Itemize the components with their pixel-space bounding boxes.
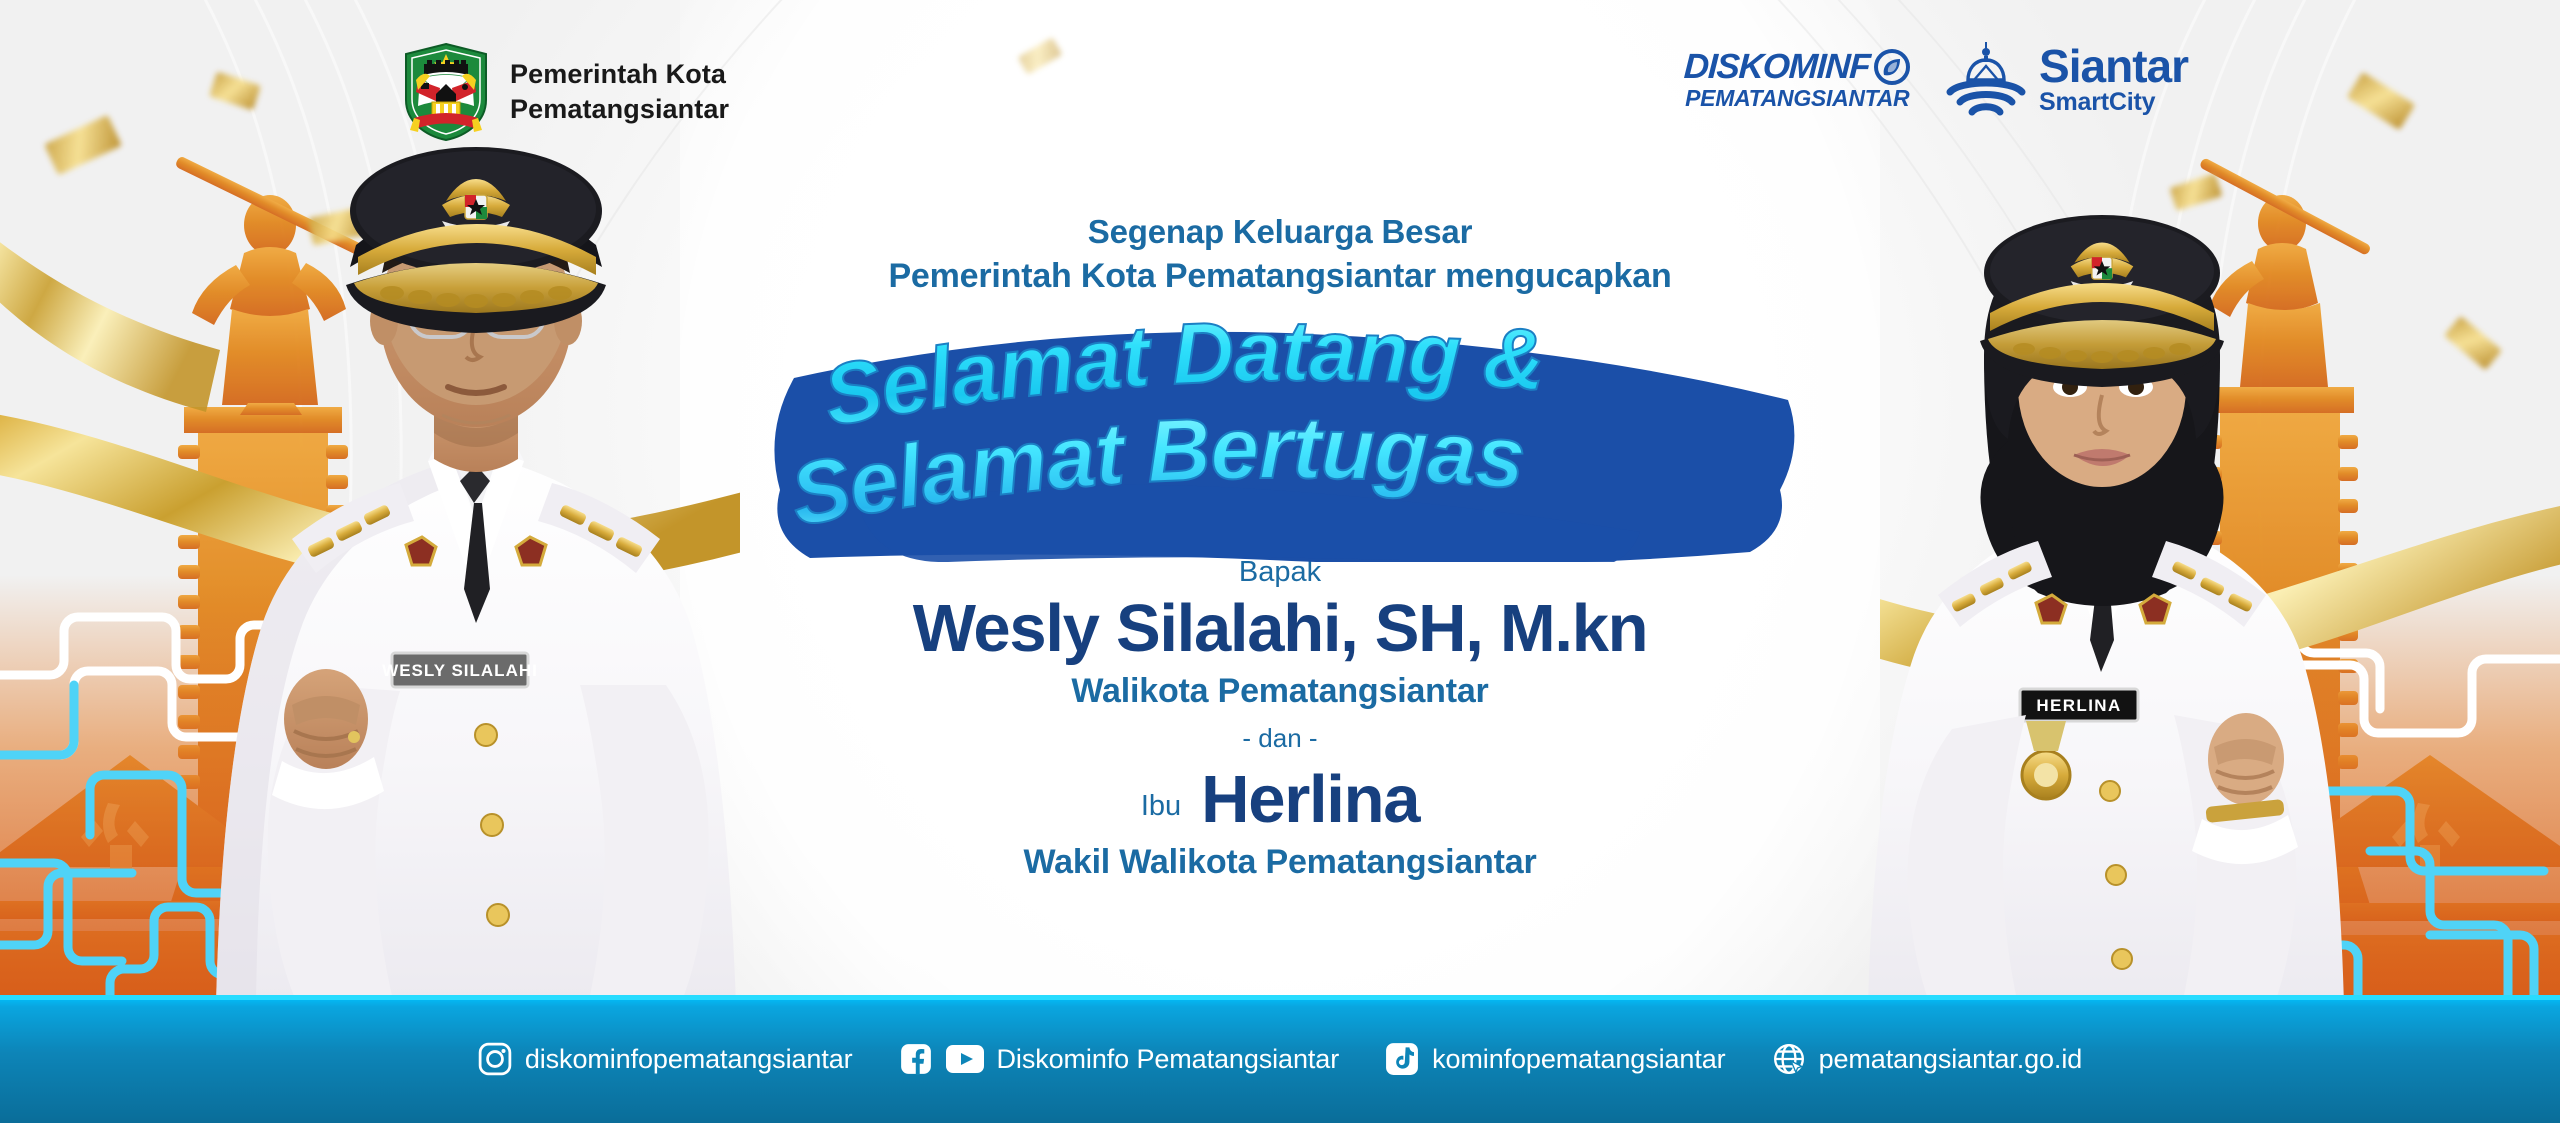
brand-logos-group: DISKOMINF PEMATANGSIANTAR — [1684, 40, 2188, 118]
globe-icon — [1772, 1042, 1806, 1076]
greeting-block: Segenap Keluarga Besar Pemerintah Kota P… — [630, 210, 1930, 300]
greeting-line-1: Segenap Keluarga Besar — [630, 210, 1930, 254]
svg-text:WESLY SILALAHI: WESLY SILALAHI — [382, 661, 538, 680]
svg-text:HERLINA: HERLINA — [2036, 696, 2121, 715]
officials-block: Bapak Wesly Silalahi, SH, M.kn Walikota … — [630, 556, 1930, 882]
official-2-name: Herlina — [1201, 764, 1419, 835]
diskominfo-logo: DISKOMINF PEMATANGSIANTAR — [1684, 49, 1910, 110]
official-1-name: Wesly Silalahi, SH, M.kn — [630, 593, 1930, 664]
footer-item-instagram[interactable]: diskominfopematangsiantar — [478, 1042, 853, 1076]
facebook-icon — [899, 1042, 933, 1076]
government-logo-text: Pemerintah Kota Pematangsiantar — [510, 57, 729, 126]
footer-label-website: pematangsiantar.go.id — [1819, 1044, 2083, 1075]
footer-label-facebook-youtube: Diskominfo Pematangsiantar — [997, 1044, 1340, 1075]
siantar-wordmark: Siantar — [2039, 43, 2188, 89]
footer-label-tiktok: kominfopematangsiantar — [1432, 1044, 1725, 1075]
social-footer-bar: diskominfopematangsiantar Diskominfo Pem… — [0, 995, 2560, 1123]
footer-label-instagram: diskominfopematangsiantar — [525, 1044, 853, 1075]
siantar-smartcity-logo: Siantar SmartCity — [1944, 40, 2188, 118]
official-2-prefix: Ibu — [1141, 790, 1181, 835]
official-2-role: Wakil Walikota Pematangsiantar — [630, 843, 1930, 882]
center-content: Segenap Keluarga Besar Pemerintah Kota P… — [630, 210, 1930, 882]
siantar-dome-wifi-icon — [1944, 40, 2028, 118]
siantar-subtitle: SmartCity — [2039, 90, 2188, 115]
official-1-role: Walikota Pematangsiantar — [630, 672, 1930, 711]
diskominfo-swirl-icon — [1874, 49, 1910, 85]
banner-root: Pemerintah Kota Pematangsiantar DISKOMIN… — [0, 0, 2560, 1123]
tiktok-icon — [1385, 1042, 1419, 1076]
headline-artwork: Selamat Datang & Selamat Datang & Selama… — [750, 314, 1810, 562]
footer-item-facebook-youtube[interactable]: Diskominfo Pematangsiantar — [899, 1042, 1340, 1076]
instagram-icon — [478, 1042, 512, 1076]
headline-block: Selamat Datang & Selamat Datang & Selama… — [630, 314, 1930, 562]
connector-label: - dan - — [630, 723, 1930, 754]
gov-line-2: Pematangsiantar — [510, 92, 729, 127]
diskominfo-subtitle: PEMATANGSIANTAR — [1685, 87, 1909, 110]
footer-item-website[interactable]: pematangsiantar.go.id — [1772, 1042, 2083, 1076]
footer-item-tiktok[interactable]: kominfopematangsiantar — [1385, 1042, 1725, 1076]
youtube-icon — [946, 1045, 984, 1073]
diskominfo-wordmark: DISKOMINF — [1684, 49, 1871, 84]
gov-line-1: Pemerintah Kota — [510, 57, 729, 92]
greeting-line-2: Pemerintah Kota Pematangsiantar mengucap… — [630, 254, 1930, 300]
